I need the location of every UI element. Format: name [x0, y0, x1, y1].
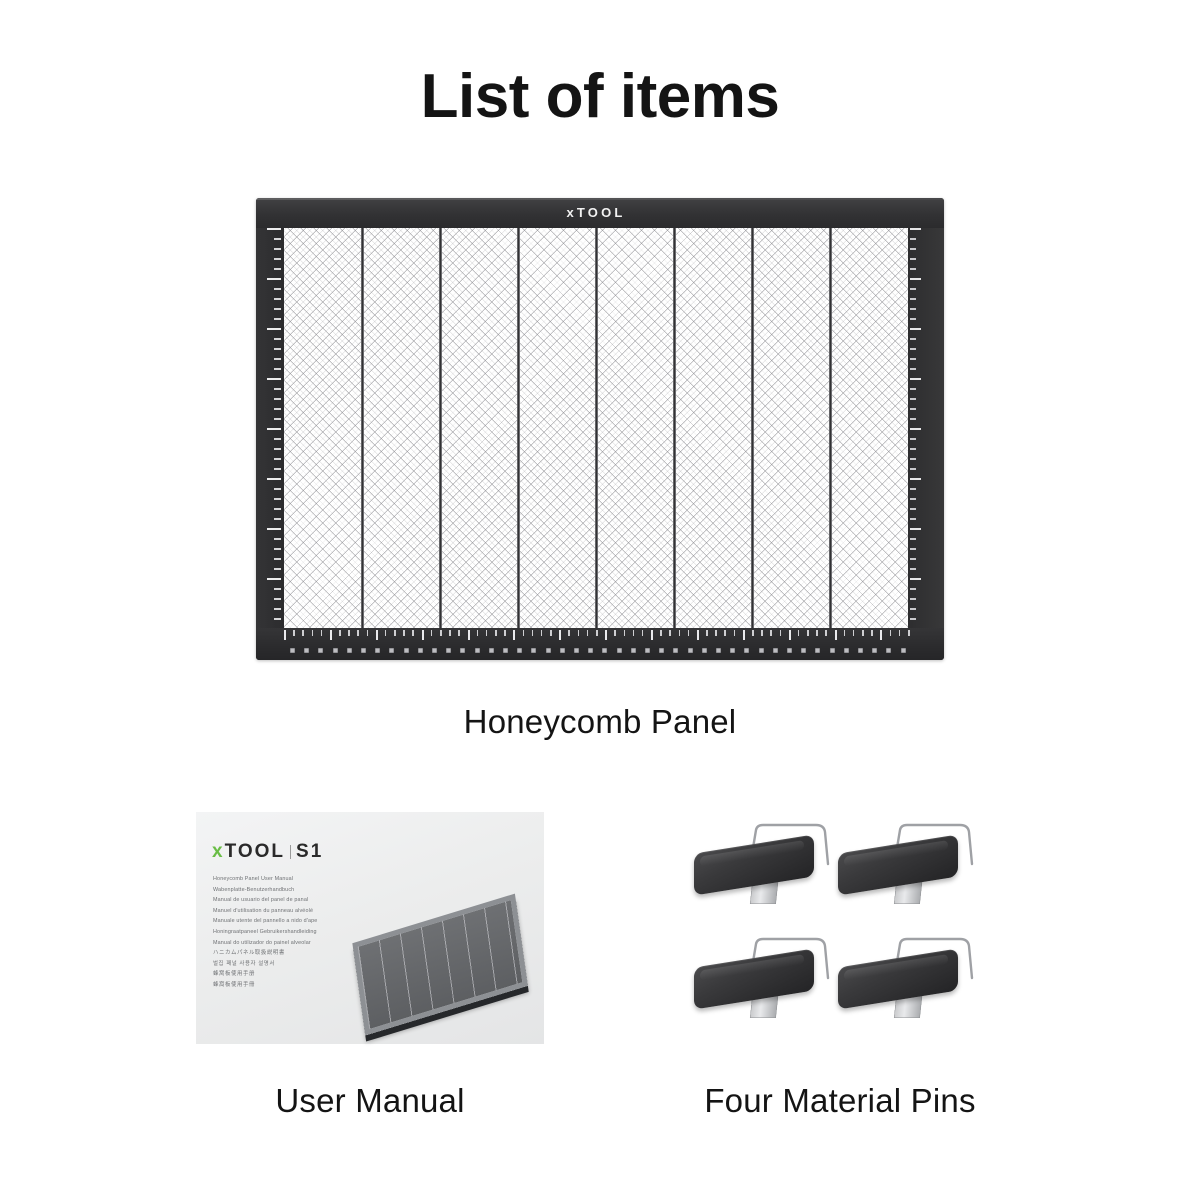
ruler-tick: [587, 630, 589, 636]
ruler-tick: [761, 630, 763, 636]
material-pins-image: [694, 822, 994, 1042]
ruler-tick: [910, 408, 916, 410]
page-title: List of items: [0, 66, 1200, 128]
ruler-tick: [910, 558, 916, 560]
caption-user-manual: User Manual: [196, 1082, 544, 1120]
ruler-tick: [910, 548, 916, 550]
ruler-tick: [267, 478, 281, 480]
panel-mounting-hole: [389, 648, 394, 653]
ruler-tick: [816, 630, 818, 636]
ruler-tick: [532, 630, 534, 636]
ruler-tick: [910, 488, 916, 490]
panel-mounting-hole: [460, 648, 465, 653]
ruler-tick: [835, 630, 837, 640]
panel-mounting-hole: [574, 648, 579, 653]
material-pin: [838, 936, 986, 1036]
ruler-tick: [468, 630, 470, 640]
ruler-tick: [274, 448, 281, 450]
user-manual-image: xTOOLS1 Honeycomb Panel User ManualWaben…: [196, 812, 544, 1044]
ruler-tick: [339, 630, 341, 636]
material-pin: [838, 822, 986, 922]
panel-mounting-hole: [716, 648, 721, 653]
manual-title-line: Wabenplatte-Benutzerhandbuch: [213, 885, 423, 896]
panel-mounting-hole: [673, 648, 678, 653]
ruler-tick: [807, 630, 809, 636]
panel-mounting-hole: [475, 648, 480, 653]
ruler-tick: [274, 398, 281, 400]
ruler-tick: [910, 528, 921, 530]
ruler-tick: [274, 248, 281, 250]
ruler-tick: [568, 630, 570, 636]
panel-mounting-hole: [886, 648, 891, 653]
ruler-tick: [910, 568, 916, 570]
ruler-tick: [706, 630, 708, 636]
ruler-tick: [357, 630, 359, 636]
ruler-tick: [431, 630, 433, 636]
ruler-tick: [633, 630, 635, 636]
panel-bottom-ruler: [256, 628, 944, 660]
ruler-tick: [910, 448, 916, 450]
ruler-tick: [910, 538, 916, 540]
ruler-tick: [715, 630, 717, 636]
panel-mounting-hole: [631, 648, 636, 653]
ruler-tick: [274, 348, 281, 350]
panel-mounting-hole: [787, 648, 792, 653]
ruler-tick: [910, 288, 916, 290]
ruler-tick: [513, 630, 515, 640]
ruler-tick: [274, 298, 281, 300]
ruler-tick: [321, 630, 323, 636]
panel-mounting-hole: [318, 648, 323, 653]
ruler-tick: [348, 630, 350, 636]
ruler-tick: [274, 608, 281, 610]
panel-mounting-hole: [531, 648, 536, 653]
panel-top-bar: xTOOL: [256, 198, 944, 228]
ruler-tick: [267, 228, 281, 230]
ruler-tick: [274, 618, 281, 620]
ruler-tick: [449, 630, 451, 636]
ruler-tick: [624, 630, 626, 636]
ruler-tick: [274, 518, 281, 520]
panel-mounting-hole: [432, 648, 437, 653]
ruler-tick: [910, 298, 916, 300]
ruler-tick: [910, 508, 916, 510]
ruler-tick: [910, 398, 916, 400]
ruler-tick: [660, 630, 662, 636]
caption-honeycomb-panel: Honeycomb Panel: [0, 703, 1200, 741]
ruler-tick: [910, 378, 921, 380]
ruler-tick: [910, 348, 916, 350]
ruler-tick: [274, 498, 281, 500]
panel-mounting-hole: [560, 648, 565, 653]
panel-mounting-hole: [304, 648, 309, 653]
ruler-tick: [910, 608, 916, 610]
manual-logo-word: TOOL: [225, 841, 285, 862]
ruler-tick: [274, 408, 281, 410]
ruler-tick: [844, 630, 846, 636]
ruler-tick: [910, 438, 916, 440]
ruler-tick: [614, 630, 616, 636]
ruler-tick: [910, 358, 916, 360]
ruler-tick: [267, 428, 281, 430]
panel-mounting-hole: [659, 648, 664, 653]
ruler-tick: [274, 538, 281, 540]
ruler-tick: [910, 268, 916, 270]
ruler-tick: [910, 578, 921, 580]
panel-right-ruler: [908, 228, 944, 628]
ruler-tick: [862, 630, 864, 636]
ruler-tick: [651, 630, 653, 640]
ruler-tick: [274, 388, 281, 390]
panel-mounting-hole: [446, 648, 451, 653]
ruler-tick: [669, 630, 671, 636]
ruler-tick: [274, 238, 281, 240]
ruler-tick: [330, 630, 332, 640]
panel-mounting-hole: [830, 648, 835, 653]
ruler-tick: [605, 630, 607, 640]
panel-left-ruler: [256, 228, 284, 628]
material-pin: [694, 822, 842, 922]
material-pin: [694, 936, 842, 1036]
ruler-tick: [458, 630, 460, 636]
ruler-tick: [642, 630, 644, 636]
caption-material-pins: Four Material Pins: [640, 1082, 1040, 1120]
panel-mounting-hole: [702, 648, 707, 653]
ruler-tick: [880, 630, 882, 640]
ruler-tick: [274, 458, 281, 460]
ruler-tick: [312, 630, 314, 636]
ruler-tick: [910, 598, 916, 600]
ruler-tick: [910, 278, 921, 280]
ruler-tick: [267, 278, 281, 280]
panel-mounting-hole: [503, 648, 508, 653]
ruler-tick: [477, 630, 479, 636]
ruler-tick: [376, 630, 378, 640]
xtool-logo: xTOOL: [256, 205, 944, 220]
ruler-tick: [267, 528, 281, 530]
panel-mounting-hole: [744, 648, 749, 653]
ruler-tick: [910, 228, 921, 230]
ruler-tick: [910, 418, 916, 420]
honeycomb-panel-image: xTOOL: [256, 198, 944, 660]
ruler-tick: [267, 378, 281, 380]
ruler-tick: [550, 630, 552, 636]
panel-mounting-hole: [375, 648, 380, 653]
ruler-tick: [541, 630, 543, 636]
manual-logo-model: S1: [296, 841, 323, 862]
ruler-tick: [679, 630, 681, 636]
ruler-tick: [890, 630, 892, 636]
panel-mounting-hole: [602, 648, 607, 653]
ruler-tick: [274, 488, 281, 490]
ruler-tick: [578, 630, 580, 636]
ruler-tick: [825, 630, 827, 636]
panel-mounting-hole: [404, 648, 409, 653]
ruler-tick: [440, 630, 442, 636]
ruler-tick: [910, 308, 916, 310]
ruler-tick: [789, 630, 791, 640]
ruler-tick: [908, 630, 910, 636]
ruler-tick: [853, 630, 855, 636]
ruler-tick: [274, 508, 281, 510]
ruler-tick: [559, 630, 561, 640]
ruler-tick: [910, 318, 916, 320]
panel-mesh-area: [284, 228, 908, 628]
panel-mounting-hole: [773, 648, 778, 653]
ruler-tick: [274, 368, 281, 370]
ruler-tick: [274, 258, 281, 260]
ruler-tick: [302, 630, 304, 636]
ruler-tick: [770, 630, 772, 636]
panel-mounting-hole: [517, 648, 522, 653]
panel-mounting-hole: [588, 648, 593, 653]
ruler-tick: [274, 588, 281, 590]
ruler-tick: [780, 630, 782, 636]
ruler-tick: [385, 630, 387, 636]
manual-logo-divider: [290, 845, 291, 859]
ruler-tick: [293, 630, 295, 636]
panel-mounting-hole: [901, 648, 906, 653]
ruler-tick: [284, 630, 286, 640]
ruler-tick: [910, 258, 916, 260]
ruler-tick: [486, 630, 488, 636]
ruler-tick: [910, 498, 916, 500]
ruler-tick: [274, 338, 281, 340]
panel-mounting-hole: [815, 648, 820, 653]
ruler-tick: [910, 388, 916, 390]
ruler-tick: [267, 328, 281, 330]
ruler-tick: [504, 630, 506, 636]
ruler-tick: [274, 558, 281, 560]
ruler-tick: [274, 358, 281, 360]
manual-cover: xTOOLS1 Honeycomb Panel User ManualWaben…: [196, 812, 544, 1044]
panel-mounting-hole: [347, 648, 352, 653]
ruler-tick: [394, 630, 396, 636]
ruler-tick: [910, 468, 916, 470]
ruler-tick: [274, 598, 281, 600]
ruler-tick: [274, 468, 281, 470]
ruler-tick: [274, 268, 281, 270]
panel-mounting-hole: [617, 648, 622, 653]
ruler-tick: [871, 630, 873, 636]
honeycomb-mesh: [284, 228, 908, 628]
ruler-tick: [267, 578, 281, 580]
panel-mounting-hole: [872, 648, 877, 653]
panel-mounting-hole: [546, 648, 551, 653]
ruler-tick: [724, 630, 726, 636]
ruler-tick: [743, 630, 745, 640]
panel-mounting-hole: [858, 648, 863, 653]
panel-mounting-hole: [688, 648, 693, 653]
panel-mounting-hole: [418, 648, 423, 653]
ruler-tick: [734, 630, 736, 636]
ruler-tick: [752, 630, 754, 636]
ruler-tick: [422, 630, 424, 640]
panel-mounting-hole: [844, 648, 849, 653]
ruler-tick: [910, 428, 921, 430]
manual-title-line: Manual de usuario del panel de panal: [213, 895, 423, 906]
ruler-tick: [596, 630, 598, 636]
ruler-tick: [274, 288, 281, 290]
panel-mounting-hole: [489, 648, 494, 653]
ruler-tick: [274, 308, 281, 310]
ruler-tick: [910, 618, 916, 620]
panel-mounting-hole: [759, 648, 764, 653]
panel-mounting-hole: [730, 648, 735, 653]
ruler-tick: [274, 548, 281, 550]
ruler-tick: [274, 438, 281, 440]
panel-mounting-hole: [801, 648, 806, 653]
manual-title-line: Manuel d'utilisation du panneau alvéolé: [213, 906, 423, 917]
ruler-tick: [274, 418, 281, 420]
ruler-tick: [910, 478, 921, 480]
panel-mounting-hole: [333, 648, 338, 653]
ruler-tick: [688, 630, 690, 636]
panel-mounting-hole: [361, 648, 366, 653]
ruler-tick: [910, 238, 916, 240]
ruler-tick: [910, 338, 916, 340]
ruler-tick: [274, 318, 281, 320]
ruler-tick: [910, 458, 916, 460]
ruler-tick: [403, 630, 405, 636]
ruler-tick: [367, 630, 369, 636]
ruler-tick: [495, 630, 497, 636]
panel-mounting-hole: [645, 648, 650, 653]
ruler-tick: [910, 328, 921, 330]
ruler-tick: [910, 588, 916, 590]
manual-logo: xTOOLS1: [212, 842, 323, 861]
ruler-tick: [523, 630, 525, 636]
ruler-tick: [274, 568, 281, 570]
ruler-tick: [798, 630, 800, 636]
ruler-tick: [910, 248, 916, 250]
ruler-tick: [899, 630, 901, 636]
panel-mounting-hole: [290, 648, 295, 653]
ruler-tick: [910, 518, 916, 520]
manual-logo-mark: x: [212, 841, 225, 862]
ruler-tick: [910, 368, 916, 370]
ruler-tick: [697, 630, 699, 640]
ruler-tick: [412, 630, 414, 636]
manual-title-line: Honeycomb Panel User Manual: [213, 874, 423, 885]
